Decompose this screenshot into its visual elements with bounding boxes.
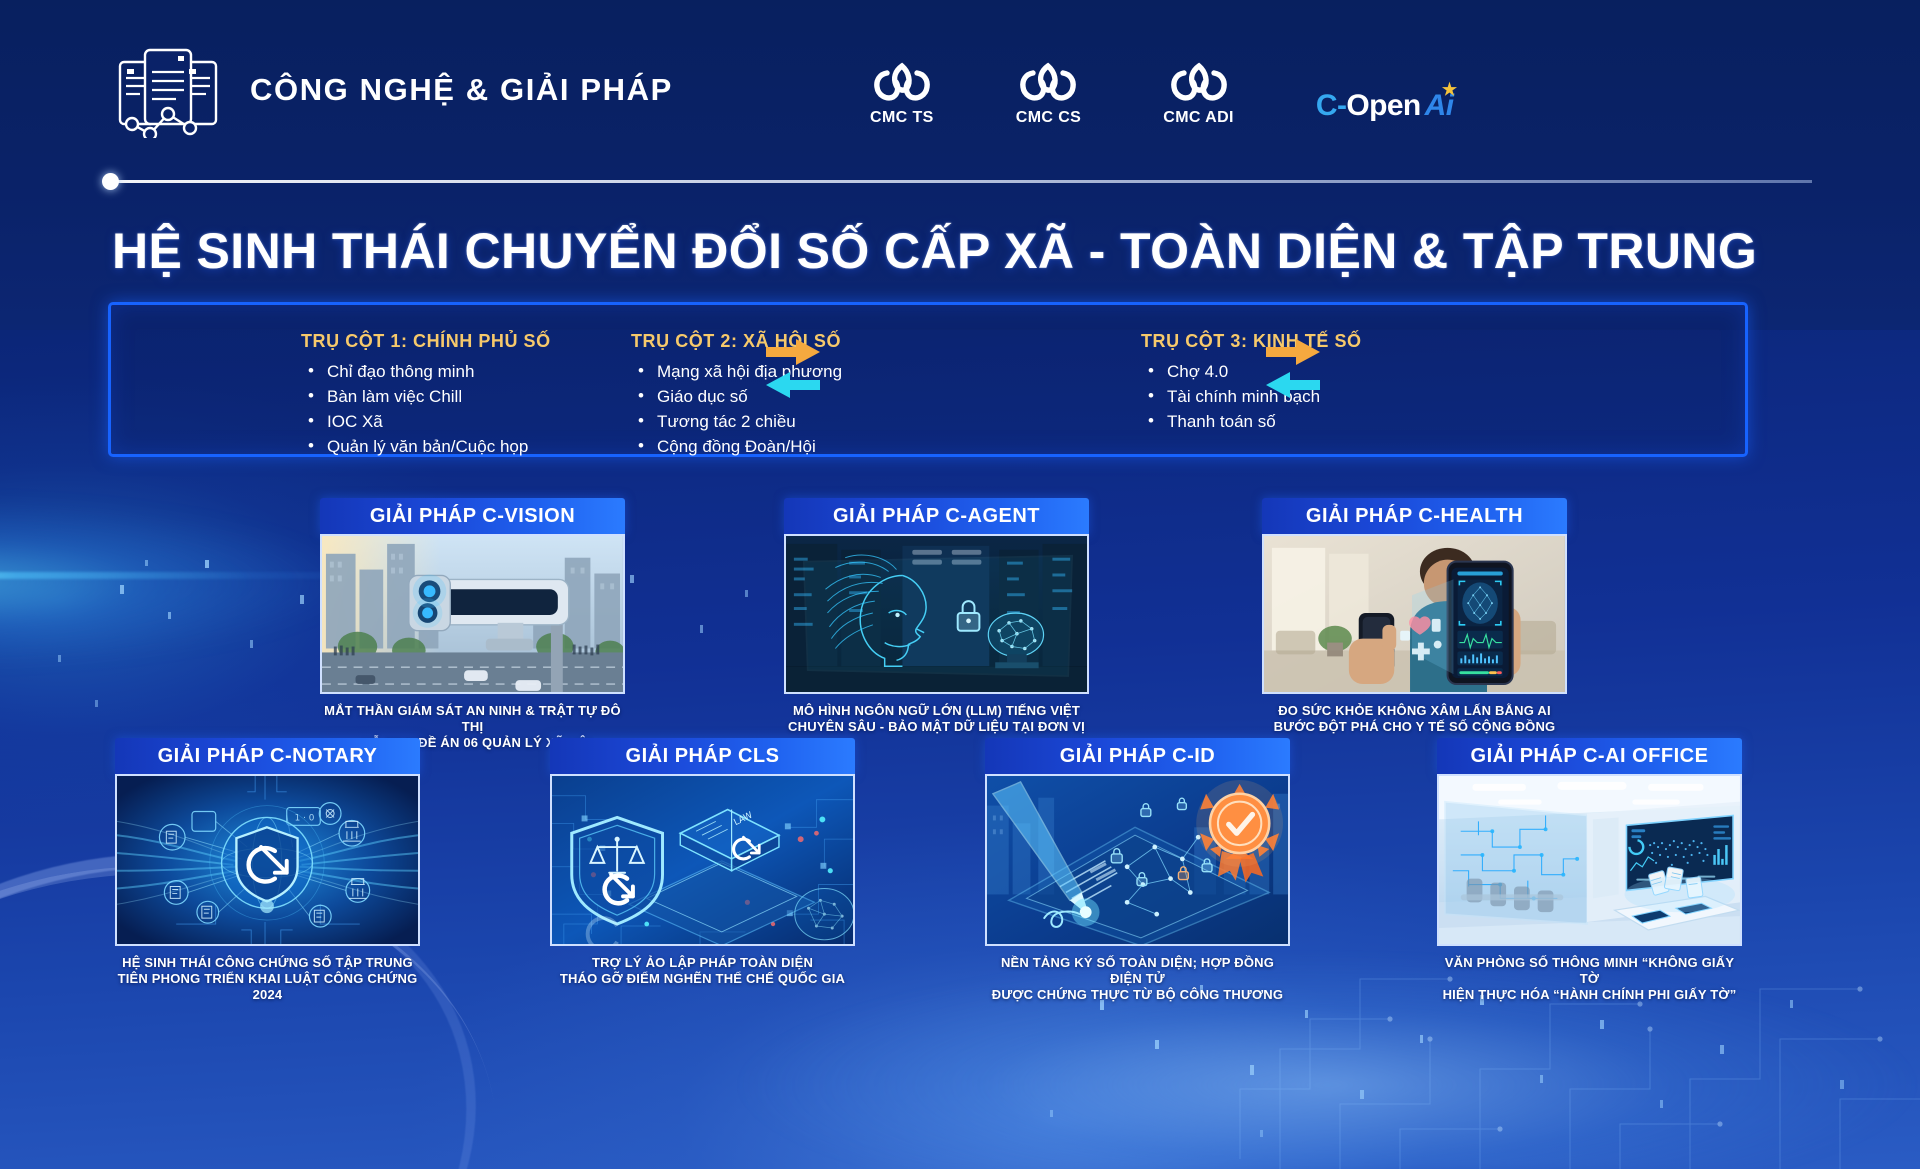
card-c-agent[interactable]: GIẢI PHÁP C-AGENT (784, 498, 1089, 735)
caption-line-2: ĐƯỢC CHỨNG THỰC TỪ BỘ CÔNG THƯƠNG (985, 987, 1290, 1003)
card-image-phone-face-health-scan (1262, 534, 1567, 694)
card-title: GIẢI PHÁP C-NOTARY (115, 738, 420, 774)
card-cls[interactable]: GIẢI PHÁP CLS (550, 738, 855, 987)
card-title: GIẢI PHÁP C-VISION (320, 498, 625, 534)
card-c-ai-office[interactable]: GIẢI PHÁP C-AI OFFICE (1437, 738, 1742, 1003)
caption-line-1: ĐO SỨC KHỎE KHÔNG XÂM LẤN BẰNG AI (1262, 703, 1567, 719)
card-title: GIẢI PHÁP CLS (550, 738, 855, 774)
card-c-notary[interactable]: GIẢI PHÁP C-NOTARY (115, 738, 420, 1003)
caption-line-2: THÁO GỠ ĐIỂM NGHẼN THỂ CHẾ QUỐC GIA (550, 971, 855, 987)
caption-line-2: CHUYÊN SÂU - BẢO MẬT DỮ LIỆU TẠI ĐƠN VỊ (784, 719, 1089, 735)
slide-canvas: CÔNG NGHỆ & GIẢI PHÁP CMC TS (0, 0, 1920, 1169)
card-title: GIẢI PHÁP C-ID (985, 738, 1290, 774)
card-caption: ĐO SỨC KHỎE KHÔNG XÂM LẤN BẰNG AI BƯỚC Đ… (1262, 703, 1567, 735)
solution-cards: GIẢI PHÁP C-VISION (0, 0, 1920, 1169)
caption-line-2: TIÊN PHONG TRIỂN KHAI LUẬT CÔNG CHỨNG 20… (115, 971, 420, 1003)
card-image-shield-network-notary: 1 · 0 (115, 774, 420, 946)
caption-line-1: NỀN TẢNG KÝ SỐ TOÀN DIỆN; HỢP ĐỒNG ĐIỆN … (985, 955, 1290, 987)
caption-line-2: HIỆN THỰC HÓA “HÀNH CHÍNH PHI GIẤY TỜ” (1437, 987, 1742, 1003)
card-caption: NỀN TẢNG KÝ SỐ TOÀN DIỆN; HỢP ĐỒNG ĐIỆN … (985, 955, 1290, 1003)
card-image-digital-signature-certificate (985, 774, 1290, 946)
ai-face-hologram-datacenter-art (786, 536, 1087, 694)
caption-line-2: BƯỚC ĐỘT PHÁ CHO Y TẾ SỐ CỘNG ĐỒNG (1262, 719, 1567, 735)
card-c-health[interactable]: GIẢI PHÁP C-HEALTH (1262, 498, 1567, 735)
smart-office-dashboard-art (1439, 776, 1740, 946)
digital-signature-certificate-art (987, 776, 1288, 946)
shield-network-notary-art: 1 · 0 (117, 776, 418, 946)
card-c-id[interactable]: GIẢI PHÁP C-ID (985, 738, 1290, 1003)
card-image-smart-office-dashboard (1437, 774, 1742, 946)
card-image-ai-face-hologram-datacenter (784, 534, 1089, 694)
card-c-vision[interactable]: GIẢI PHÁP C-VISION (320, 498, 625, 751)
card-image-city-surveillance-camera (320, 534, 625, 694)
caption-line-1: MẮT THẦN GIÁM SÁT AN NINH & TRẬT TỰ ĐÔ T… (320, 703, 625, 735)
card-image-legal-shield-law-book: LAW (550, 774, 855, 946)
card-caption: VĂN PHÒNG SỐ THÔNG MINH “KHÔNG GIẤY TỜ H… (1437, 955, 1742, 1003)
card-title: GIẢI PHÁP C-AGENT (784, 498, 1089, 534)
legal-shield-law-book-art: LAW (552, 776, 853, 946)
card-caption: TRỢ LÝ ẢO LẬP PHÁP TOÀN DIỆN THÁO GỠ ĐIỂ… (550, 955, 855, 987)
card-title: GIẢI PHÁP C-AI OFFICE (1437, 738, 1742, 774)
phone-face-health-scan-art (1264, 536, 1565, 694)
city-surveillance-camera-art (322, 536, 623, 694)
card-caption: MÔ HÌNH NGÔN NGỮ LỚN (LLM) TIẾNG VIỆT CH… (784, 703, 1089, 735)
card-caption: HỆ SINH THÁI CÔNG CHỨNG SỐ TẬP TRUNG TIÊ… (115, 955, 420, 1003)
caption-line-1: TRỢ LÝ ẢO LẬP PHÁP TOÀN DIỆN (550, 955, 855, 971)
caption-line-1: VĂN PHÒNG SỐ THÔNG MINH “KHÔNG GIẤY TỜ (1437, 955, 1742, 987)
caption-line-1: HỆ SINH THÁI CÔNG CHỨNG SỐ TẬP TRUNG (115, 955, 420, 971)
card-title: GIẢI PHÁP C-HEALTH (1262, 498, 1567, 534)
caption-line-1: MÔ HÌNH NGÔN NGỮ LỚN (LLM) TIẾNG VIỆT (784, 703, 1089, 719)
